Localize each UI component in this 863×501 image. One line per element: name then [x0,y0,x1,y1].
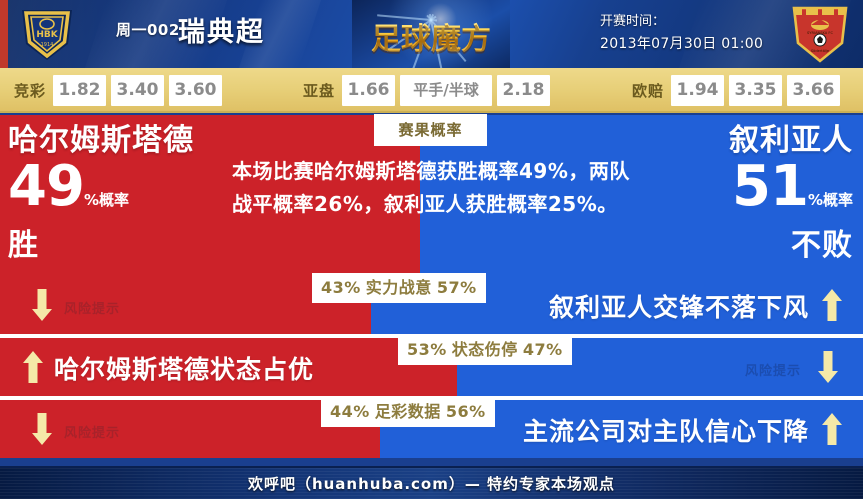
header-left-accent [0,0,8,68]
arrow-down-icon [31,412,53,446]
odds-cell-draw[interactable]: 3.40 [111,75,164,106]
odds-cell-away[interactable]: 3.60 [169,75,222,106]
result-probability-panel: 赛果概率 哈尔姆斯塔德 49%概率 胜 叙利亚人 51%概率 不败 本场比赛哈尔… [0,115,863,276]
stat-row: 43%实力战意57%风险提示叙利亚人交锋不落下风 [0,276,863,334]
away-probability-block: 叙利亚人 51%概率 不败 [623,123,853,264]
odds-group-jingcai: 竞彩 1.82 3.40 3.60 [14,68,227,113]
away-probability-suffix: %概率 [808,191,853,209]
stat-row-name: 状态伤停 [452,340,518,359]
home-probability-block: 哈尔姆斯塔德 49%概率 胜 [8,123,238,264]
stat-row-name: 足彩数据 [375,402,441,421]
odds-cell-draw[interactable]: 3.35 [729,75,782,106]
panel-tab-result-probability[interactable]: 赛果概率 [374,114,487,146]
odds-group-title: 竞彩 [14,80,46,101]
stat-row-right-percent: 47% [523,340,563,359]
arrow-up-icon [821,412,843,446]
probability-summary-text: 本场比赛哈尔姆斯塔德获胜概率49%，两队战平概率26%，叙利亚人获胜概率25%。 [232,155,630,221]
match-number-label: 周一002 [116,19,180,40]
stat-row-label-chip: 53%状态伤停47% [398,335,572,365]
stat-row-label-chip: 44%足彩数据56% [321,397,495,427]
stat-row: 44%足彩数据56%风险提示主流公司对主队信心下降 [0,400,863,458]
kickoff-time-label: 开赛时间： [600,11,800,33]
stat-row-name: 实力战意 [366,278,432,297]
arrow-up-icon [22,350,44,384]
home-team-crest-icon: HBK 1914 [14,4,80,64]
stat-rows-container: 43%实力战意57%风险提示叙利亚人交锋不落下风53%状态伤停47%哈尔姆斯塔德… [0,276,863,466]
home-risk-note: 风险提示 [64,298,120,317]
stat-row-left-percent: 53% [407,340,447,359]
away-insight-message: 主流公司对主队信心下降 [523,412,809,448]
kickoff-time-block: 开赛时间： 2013年07月30日 01:00 [600,11,800,55]
svg-text:SYRIANSKA FC: SYRIANSKA FC [807,31,833,35]
odds-bar: 竞彩 1.82 3.40 3.60 亚盘 1.66 平手/半球 2.18 欧赔 … [0,68,863,113]
away-verdict: 不败 [623,228,853,264]
stat-row-left-percent: 43% [321,278,361,297]
away-team-crest-icon: SYRIANSKA FC Södertälje [789,3,851,65]
home-probability-suffix: %概率 [84,191,129,209]
arrow-down-icon [817,350,839,384]
stat-row-label-chip: 43%实力战意57% [312,273,486,303]
odds-group-european: 欧赔 1.94 3.35 3.66 [632,68,845,113]
odds-cell-home[interactable]: 1.94 [671,75,724,106]
odds-group-asian-handicap: 亚盘 1.66 平手/半球 2.18 [303,68,555,113]
stat-row-left-percent: 44% [330,402,370,421]
footer-credit: 欢呼吧（huanhuba.com）— 特约专家本场观点 [0,466,863,499]
stat-row-right-percent: 57% [437,278,477,297]
odds-cell-home[interactable]: 1.66 [342,75,395,106]
odds-cell-away[interactable]: 3.66 [787,75,840,106]
home-risk-note: 风险提示 [64,422,120,441]
svg-text:HBK: HBK [36,30,58,40]
brand-logo-text: 足球魔方 [352,14,510,58]
away-probability-value: 51%概率 [623,159,853,228]
league-name: 瑞典超 [178,10,265,49]
away-insight-message: 叙利亚人交锋不落下风 [549,288,809,324]
header-bar: HBK 1914 周一002 瑞典超 足球魔方 开赛时间： 2013年07月30… [0,0,863,68]
arrow-down-icon [31,288,53,322]
brand-logo[interactable]: 足球魔方 [352,0,510,68]
home-verdict: 胜 [8,228,238,264]
kickoff-time-value: 2013年07月30日 01:00 [600,33,800,55]
stat-row: 53%状态伤停47%哈尔姆斯塔德状态占优风险提示 [0,338,863,396]
svg-text:Södertälje: Södertälje [811,49,830,53]
away-probability-number: 51 [732,154,808,219]
arrow-up-icon [821,288,843,322]
home-probability-value: 49%概率 [8,159,238,228]
svg-text:1914: 1914 [41,42,54,48]
home-insight-message: 哈尔姆斯塔德状态占优 [54,350,314,386]
odds-cell-home[interactable]: 1.82 [53,75,106,106]
away-risk-note: 风险提示 [745,360,801,379]
stat-row-right-percent: 56% [446,402,486,421]
odds-group-title: 欧赔 [632,80,664,101]
home-probability-number: 49 [8,154,84,219]
odds-cell-handicap[interactable]: 平手/半球 [400,75,492,106]
odds-cell-away[interactable]: 2.18 [497,75,550,106]
match-preview-infographic: HBK 1914 周一002 瑞典超 足球魔方 开赛时间： 2013年07月30… [0,0,863,499]
odds-group-title: 亚盘 [303,80,335,101]
